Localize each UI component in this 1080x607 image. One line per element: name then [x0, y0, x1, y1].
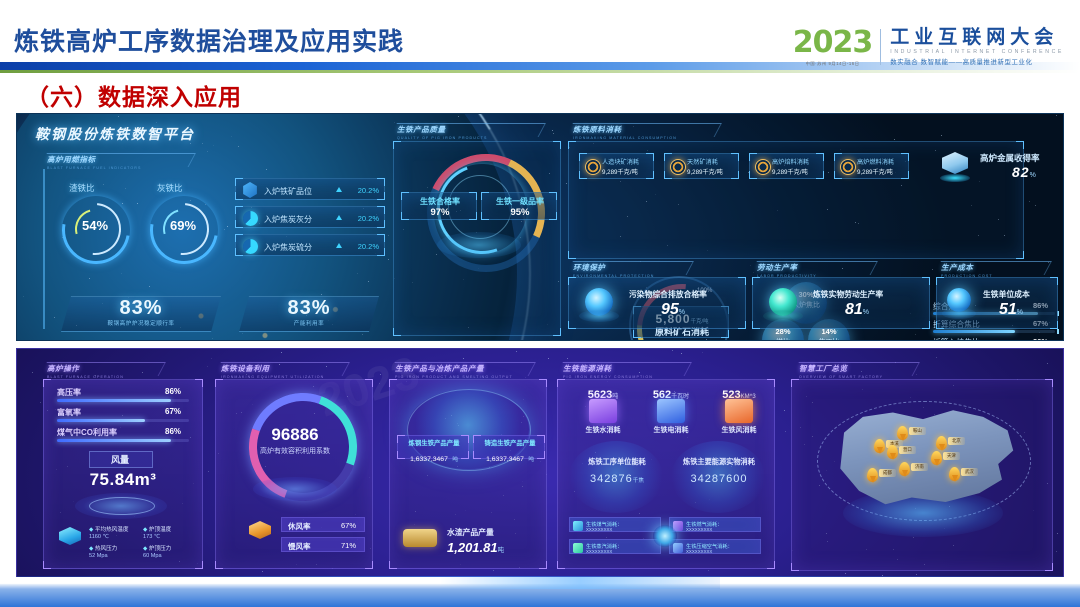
bar-value: 86%	[165, 387, 181, 396]
bar-label: 高压率	[57, 387, 81, 398]
map-pin[interactable]	[887, 445, 898, 459]
pie-icon	[243, 239, 258, 254]
panel-production-cost: 生铁单位成本 51%	[936, 277, 1058, 329]
kpi-value: 97%	[402, 207, 478, 218]
bar-label: 煤气中CO利用率	[57, 427, 117, 438]
stat-label-top-temp: ◆ 炉顶温度	[143, 525, 171, 533]
map-pin-label: 营口	[899, 446, 916, 454]
panel-title-material-consumption: 炼铁原料消耗 IRONMAKING MATERIAL CONSUMPTION	[573, 124, 677, 140]
tile-icon	[589, 399, 617, 423]
kpi-label: 铸造生铁产品产量	[474, 438, 546, 447]
kpi-unit: %	[863, 309, 869, 316]
dashboard-screenshot-bottom: 2023 高炉操作 BLAST FURNACE OPERATION 高压率 86…	[16, 348, 1064, 583]
small-row-gas[interactable]: 生铁煤气消耗： XXXXXXXXX	[569, 517, 661, 532]
map-pin[interactable]	[931, 451, 942, 465]
water-slag-value-wrap: 1,201.81吨	[447, 539, 504, 557]
globe-value: 34287600	[691, 473, 748, 485]
pie-icon	[243, 211, 258, 226]
kpi-unit: 吨	[528, 457, 534, 463]
stat-value-top-temp: 173 ℃	[143, 534, 160, 540]
kpi-value: 1,6337,3467	[410, 456, 448, 463]
logo-tagline: 数实融合 数智赋能——高质量推进新型工业化	[890, 57, 1064, 66]
panel-title-labor-productivity: 劳动生产率 LABOR PRODUCTIVITY	[757, 262, 817, 278]
globe-label: 炼铁工序单位能耗	[565, 457, 669, 467]
stat-value-top-pressure: 60 Mpa	[143, 553, 162, 559]
map-pin[interactable]	[897, 426, 908, 440]
target-icon	[755, 159, 771, 175]
logo-text-block: 工业互联网大会 INDUSTRIAL INTERNET CONFERENCE 数…	[881, 28, 1064, 67]
dial-value: 54%	[77, 218, 113, 233]
blast-volume-label: 风量	[89, 453, 151, 466]
chevron-capacity-text: 83% 产能利用率	[239, 297, 379, 327]
bubble-label: 煤比	[762, 337, 804, 341]
metric-delta: 20.2%	[358, 214, 379, 223]
metric-label: 入炉铁矿品位	[264, 186, 312, 197]
metric-delta: 20.2%	[358, 242, 379, 251]
conference-logo: 2023 中国·苏州 9月14日-16日 工业互联网大会 INDUSTRIAL …	[793, 24, 1064, 70]
panel-title-production-cost: 生产成本 PRODUCTION COST	[941, 262, 993, 278]
kpi-label: 生铁合格率	[402, 196, 478, 207]
globe-unit: 千焦	[633, 478, 644, 484]
map-pin[interactable]	[874, 439, 885, 453]
page-title: 炼铁高炉工序数据治理及应用实践	[14, 22, 404, 58]
gold-bowl-icon	[403, 529, 437, 547]
stat-label-hot-blast-pressure: ◆ 热风压力	[89, 544, 117, 552]
tile-label: 生铁电消耗	[637, 425, 705, 435]
kpi-label: 炼钢生铁产品产量	[398, 438, 470, 447]
panel-title-cn: 高炉用燃指标	[47, 154, 141, 165]
panel-title-blast-furnace-operation: 高炉操作 BLAST FURNACE OPERATION	[47, 363, 124, 379]
kpi-pig-iron-pass-rate[interactable]: 生铁合格率 97%	[401, 192, 477, 220]
small-value: XXXXXXXXX	[686, 549, 712, 554]
blast-volume-ring	[89, 497, 155, 515]
blast-volume-value: 75.84m³	[53, 470, 193, 490]
yield-value: 82	[1012, 164, 1030, 180]
panel-environmental: 污染物综合排放合格率 95%	[568, 277, 746, 329]
map-pin[interactable]	[949, 467, 960, 481]
dial-value: 69%	[165, 218, 201, 233]
kpi-value: 95%	[482, 207, 558, 218]
kpi-pig-iron-grade1-rate[interactable]: 生铁一级品率 95%	[481, 192, 557, 220]
map-pin-label: 鞍山	[909, 427, 926, 435]
kpi-value: 1,6337,3467	[486, 456, 524, 463]
platform-title: 鞍钢股份炼铁数智平台	[35, 124, 195, 144]
kpi-value: 81	[845, 301, 863, 318]
ring-label: 高炉有效容积利用系数	[239, 446, 351, 456]
small-value: XXXXXXXXX	[586, 549, 612, 554]
panel-title-cn: 环境保护	[573, 262, 655, 273]
kpi-value: 51	[999, 301, 1017, 318]
air-icon	[673, 543, 683, 553]
metric-row-ore-grade[interactable]: 入炉铁矿品位 20.2%	[235, 178, 385, 200]
stat-label-top-pressure: ◆ 炉顶压力	[143, 544, 171, 552]
water-slag-unit: 吨	[498, 547, 504, 554]
row-slow-blast-rate[interactable]: 慢风率 71%	[281, 537, 365, 552]
kpi-casting-pig-iron[interactable]: 铸造生铁产品产量 1,6337,3467 吨	[473, 435, 545, 459]
kpi-label: 生铁一级品率	[482, 196, 558, 207]
chevron-value: 83%	[61, 297, 221, 320]
panel-title-cn: 高炉操作	[47, 363, 124, 374]
panel-labor-productivity: 炼铁实物劳动生产率 81%	[752, 277, 930, 329]
center-orb-icon	[653, 525, 677, 547]
orb-plate	[579, 310, 619, 322]
panel-title-cn: 生产成本	[941, 262, 993, 273]
material-label: 天然矿消耗	[687, 157, 718, 166]
small-row-fuelgas[interactable]: 生铁燃气消耗： XXXXXXXXX	[669, 517, 761, 532]
globe-value: 342876	[590, 473, 633, 485]
footer-skyline	[440, 577, 720, 589]
bar-label: 富氧率	[57, 407, 81, 418]
globe-label: 炼铁主要能源实物消耗	[665, 457, 773, 467]
panel-title-smart-factory: 智慧工厂总览 OVERVIEW OF SMART FACTORY	[799, 363, 883, 379]
bar-value: 86%	[165, 427, 181, 436]
logo-title-cn: 工业互联网大会	[890, 28, 1064, 48]
row-value: 67%	[341, 521, 356, 530]
yield-label: 高炉金属收得率	[980, 152, 1040, 164]
row-value: 71%	[341, 541, 356, 550]
logo-year: 2023	[793, 28, 873, 58]
material-label: 高炉燃料消耗	[857, 157, 894, 166]
map-pin[interactable]	[936, 436, 947, 450]
kpi-value: 95	[661, 301, 679, 318]
hex-icon	[242, 182, 258, 198]
bar-value: 86%	[1033, 337, 1048, 341]
target-icon	[670, 159, 686, 175]
map-pin-label: 北京	[948, 437, 965, 445]
material-label: 高炉焙料消耗	[772, 157, 809, 166]
water-slag-label: 水渣产品产量	[447, 527, 494, 538]
material-card-fuel[interactable]: 高炉燃料消耗 9,289千克/吨	[834, 153, 909, 179]
tile-icon	[725, 399, 753, 423]
logo-year-block: 2023 中国·苏州 9月14日-16日	[793, 28, 881, 67]
chevron-label: 鞍钢高炉炉况稳定顺行率	[61, 319, 221, 327]
panel-title-pig-iron-quality: 生铁产品质量 QUALITY OF PIG IRON PRODUCTS	[397, 124, 487, 140]
arrow-up-icon	[336, 243, 342, 248]
header-divider-green	[0, 70, 1080, 73]
cube-icon-base	[940, 174, 970, 182]
dial-label: 渣铁比	[69, 182, 95, 194]
tile-label: 生铁水消耗	[569, 425, 637, 435]
kpi-unit: 吨	[452, 457, 458, 463]
material-card-sinter[interactable]: 高炉焙料消耗 9,289千克/吨	[749, 153, 824, 179]
kpi-label: 炼铁实物劳动生产率	[813, 289, 883, 300]
map-pin[interactable]	[899, 462, 910, 476]
chevron-label: 产能利用率	[239, 319, 379, 327]
arrow-up-icon	[336, 187, 342, 192]
material-card-artificial-ore[interactable]: 人造块矿消耗 9,289千克/吨	[579, 153, 654, 179]
material-value: 9,289千克/吨	[602, 167, 638, 176]
metric-label: 入炉焦炭灰分	[264, 214, 312, 225]
panel-title-cn: 炼铁设备利用	[221, 363, 324, 374]
chevron-value: 83%	[239, 297, 379, 320]
arrow-up-icon	[336, 215, 342, 220]
material-card-natural-ore[interactable]: 天然矿消耗 9,289千克/吨	[664, 153, 739, 179]
map-pin[interactable]	[867, 468, 878, 482]
kpi-label: 生铁单位成本	[983, 289, 1030, 300]
bar-value: 67%	[165, 407, 181, 416]
metric-row-coke-sulfur[interactable]: 入炉焦炭硫分 20.2%	[235, 234, 385, 256]
yield-value-wrap: 82%	[1012, 164, 1036, 182]
panel-title-cn: 劳动生产率	[757, 262, 817, 273]
metric-row-coke-ash[interactable]: 入炉焦炭灰分 20.2%	[235, 206, 385, 228]
dashboard-screenshot-top: 鞍钢股份炼铁数智平台 高炉用燃指标 BLAST FURNACE FUEL IND…	[16, 113, 1064, 341]
row-blast-off-rate[interactable]: 休风率 67%	[281, 517, 365, 532]
row-label: 休风率	[288, 521, 311, 532]
bar-label: 折算入炉焦比	[933, 337, 980, 341]
panel-title-product-output: 生铁产品与冶炼产品产量 PIG IRON PRODUCT AND SMELTIN…	[395, 363, 513, 379]
ring-value: 96886	[249, 425, 341, 445]
orb-plate	[763, 310, 803, 322]
gas-icon	[573, 521, 583, 531]
small-row-compressed-air[interactable]: 生铁压缩空气消耗： XXXXXXXXX	[669, 539, 761, 554]
stat-label-hot-blast-temp: ◆ 平均热风温度	[89, 525, 128, 533]
stat-value-hot-blast-pressure: 52 Mpa	[89, 553, 108, 559]
panel-title-en: IRONMAKING MATERIAL CONSUMPTION	[573, 136, 677, 140]
panel-title-cn: 智慧工厂总览	[799, 363, 883, 374]
panel-title-energy-consumption: 生铁能源消耗 PIG IRON ENERGY CONSUMPTION	[563, 363, 653, 379]
map-pin-label: 济南	[911, 463, 928, 471]
material-value: 9,289千克/吨	[857, 167, 893, 176]
kpi-unit: %	[679, 309, 685, 316]
map-pin-label: 武汉	[961, 468, 978, 476]
logo-title-en: INDUSTRIAL INTERNET CONFERENCE	[890, 49, 1064, 55]
metric-label: 入炉焦炭硫分	[264, 242, 312, 253]
map-pin-label: 天津	[943, 452, 960, 460]
slide-root: 炼铁高炉工序数据治理及应用实践 2023 中国·苏州 9月14日-16日 工业互…	[0, 0, 1080, 607]
panel-title-environmental: 环境保护 ENVIRONMENTAL PROTECTION	[573, 262, 655, 278]
tile-icon	[657, 399, 685, 423]
chevron-stability-text: 83% 鞍钢高炉炉况稳定顺行率	[61, 297, 221, 327]
stat-value-hot-blast-temp: 1160 ℃	[89, 534, 109, 540]
panel-title-cn: 炼铁原料消耗	[573, 124, 677, 135]
kpi-steelmaking-pig-iron[interactable]: 炼钢生铁产品产量 1,6337,3467 吨	[397, 435, 469, 459]
dial-label: 灰铁比	[157, 182, 183, 194]
metric-delta: 20.2%	[358, 186, 379, 195]
map-pin-label: 成都	[879, 469, 896, 477]
orb-plate	[942, 308, 976, 319]
steam-icon	[573, 543, 583, 553]
bubble-label: 焦丁比	[808, 337, 850, 341]
section-title: （六）数据深入应用	[26, 78, 242, 112]
panel-title-en: QUALITY OF PIG IRON PRODUCTS	[397, 136, 487, 140]
panel-title-cn: 生铁能源消耗	[563, 363, 653, 374]
kpi-label: 污染物综合排放合格率	[629, 289, 707, 300]
yield-unit: %	[1030, 172, 1036, 179]
small-value: XXXXXXXXX	[686, 527, 712, 532]
panel-title-cn: 生铁产品质量	[397, 124, 487, 135]
material-value: 9,289千克/吨	[687, 167, 723, 176]
row-label: 慢风率	[288, 541, 311, 552]
small-row-steam[interactable]: 生铁蒸汽消耗： XXXXXXXXX	[569, 539, 661, 554]
panel-title-equipment-utilization: 炼铁设备利用 IRONMAKING EQUIPMENT UTILIZATION	[221, 363, 324, 379]
logo-year-sub: 中国·苏州 9月14日-16日	[806, 61, 860, 67]
small-value: XXXXXXXXX	[586, 527, 612, 532]
material-label: 人造块矿消耗	[602, 157, 639, 166]
panel-title-furnace-indicators: 高炉用燃指标 BLAST FURNACE FUEL INDICATORS	[47, 154, 141, 170]
material-value: 9,289千克/吨	[772, 167, 808, 176]
panel-title-cn: 生铁产品与冶炼产品产量	[395, 363, 513, 374]
target-icon	[840, 159, 856, 175]
target-icon	[585, 159, 601, 175]
tile-label: 生铁风消耗	[705, 425, 773, 435]
kpi-unit: %	[1017, 309, 1023, 316]
water-slag-value: 1,201.81	[447, 540, 498, 555]
